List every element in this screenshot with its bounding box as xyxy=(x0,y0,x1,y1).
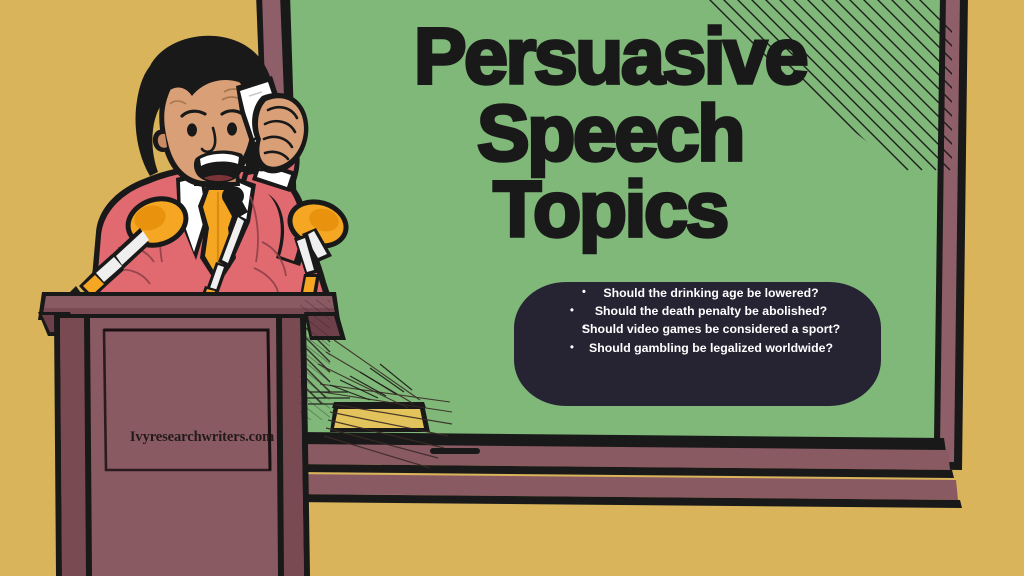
title-line-3: Topics xyxy=(300,171,920,248)
topics-list: Should the drinking age be lowered? Shou… xyxy=(556,284,866,357)
title-line-1: Persuasive xyxy=(300,18,920,95)
list-item: Should the drinking age be lowered? xyxy=(556,284,866,302)
list-item: Should gambling be legalized worldwide? xyxy=(556,339,866,357)
page-title: Persuasive Speech Topics xyxy=(300,18,920,248)
poster-canvas: Persuasive Speech Topics Should the drin… xyxy=(0,0,1024,576)
title-line-2: Speech xyxy=(300,95,920,172)
list-item: Should video games be considered a sport… xyxy=(556,320,866,338)
watermark-brand: Ivyresearchwriters.com xyxy=(112,429,292,446)
list-item: Should the death penalty be abolished? xyxy=(556,302,866,320)
